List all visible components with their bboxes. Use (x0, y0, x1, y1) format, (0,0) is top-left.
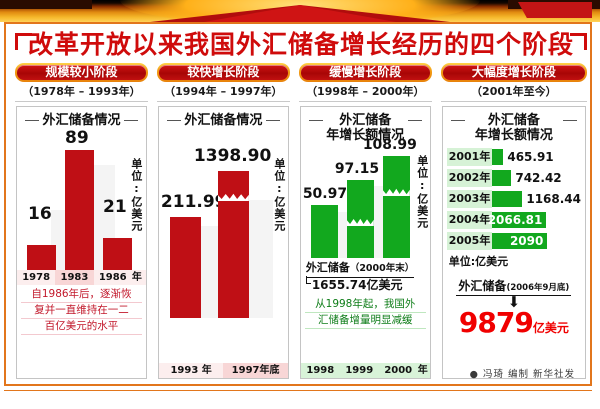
main-frame: 改革开放以来我国外汇储备增长经历的四个阶段 规模较小阶段 （1978年 – 19… (4, 22, 592, 386)
stage-4-final-box: 外汇储备(2006年9月底) ⬇ 9879亿美元 (443, 269, 585, 338)
rule-left-icon (25, 120, 39, 121)
mid-note-title: 外汇储备（2000年末） (306, 261, 414, 278)
rule-left-icon (309, 120, 323, 121)
row-year: 2003年 (447, 190, 493, 208)
stage-4-label: 大幅度增长阶段 (443, 65, 585, 80)
note-line: 自1986年后，逐渐恢 (21, 287, 142, 303)
stage-3-plot: 50.97 97.15 108.99 单位:亿美元 (301, 143, 430, 258)
footer-rule (4, 390, 592, 406)
stage-1-card-title: 外汇储备情况 (42, 113, 120, 128)
rule-right-icon (408, 120, 422, 121)
note-line: 复并一直维持在一二 (21, 303, 142, 319)
infographic-root: 改革开放以来我国外汇储备增长经历的四个阶段 规模较小阶段 （1978年 – 19… (0, 0, 600, 409)
stage-3-label: 缓慢增长阶段 (301, 65, 430, 80)
stage-1-value-2: 21 (103, 197, 127, 217)
rule-right-icon (266, 120, 280, 121)
credit-line: ● 冯琦 编制 新华社发 (470, 366, 575, 380)
panel-stage-4: 大幅度增长阶段 （2001年至今） 外汇储备 年增长额情况 2001年 (439, 63, 589, 385)
title-row: 改革开放以来我国外汇储备增长经历的四个阶段 (7, 29, 595, 61)
stage-3-value-2: 108.99 (363, 137, 417, 153)
stage-4-card-title-line2: 年增长额情况 (443, 128, 585, 143)
axis-tick-label: 2000 (379, 363, 418, 378)
stage-2-plot: 211.99 1398.90 单位:亿美元 (159, 128, 288, 318)
stage-2-value-0: 211.99 (161, 192, 227, 212)
banner-red-flag (518, 2, 592, 18)
stage-2-axis: 1993 年 1997年底 (159, 363, 288, 378)
stage-4-pill-wrap: 大幅度增长阶段 (439, 63, 589, 82)
axis-unit-suffix: 年 (418, 363, 430, 378)
stage-4-card-title-wrap: 外汇储备 年增长额情况 (443, 107, 585, 143)
stage-2-pill-wrap: 较快增长阶段 (155, 63, 292, 82)
stage-2-card-title: 外汇储备情况 (184, 113, 262, 128)
panel-stage-2: 较快增长阶段 （1994年 – 1997年） 外汇储备情况 211.99 (155, 63, 292, 385)
table-row: 2005年 2090 (447, 231, 581, 251)
stage-2-value-1: 1398.90 (194, 146, 271, 166)
row-year: 2001年 (447, 148, 493, 166)
axis-tick-label: 1978 (17, 270, 55, 285)
stage-3-mid-note: 外汇储备（2000年末） 1655.74亿美元 (301, 258, 430, 292)
row-year: 2002年 (447, 169, 493, 187)
stage-2-period: （1994年 – 1997年） (157, 83, 290, 102)
stage-3-card-title-line1: 外汇储备 (339, 113, 391, 128)
stage-1-label: 规模较小阶段 (17, 65, 146, 80)
row-bar: 2066.81 (492, 212, 546, 228)
table-row: 2004年 2066.81 (447, 210, 581, 230)
mid-note-paren: （2000年末） (350, 263, 414, 274)
stage-3-bar-2 (383, 156, 410, 258)
stage-2-spacer (159, 318, 288, 358)
axis-unit-suffix: 年 (132, 270, 146, 285)
stage-1-pill: 规模较小阶段 (15, 63, 148, 82)
banner-left-bar (0, 0, 92, 9)
stage-1-note: 自1986年后，逐渐恢 复并一直维持在一二 百亿美元的水平 (17, 285, 146, 339)
final-paren: (2006年9月底) (506, 283, 569, 293)
note-line: 百亿美元的水平 (21, 319, 142, 335)
panel-stage-1: 规模较小阶段 （1978年 – 1993年） 外汇储备情况 16 (13, 63, 150, 385)
stage-2-card: 外汇储备情况 211.99 1398.90 单位:亿美元 1993 年 (158, 106, 289, 379)
stage-3-pill-wrap: 缓慢增长阶段 (297, 63, 434, 82)
rule-right-icon (563, 120, 577, 121)
stage-1-bar-0 (27, 245, 56, 270)
stage-1-axis: 1978 1983 1986 年 (17, 270, 146, 285)
stage-2-card-title-wrap: 外汇储备情况 (159, 107, 288, 128)
row-bar (492, 191, 522, 207)
stage-3-axis: 1998 1999 2000 年 (301, 363, 430, 378)
row-value: 1168.44 (522, 192, 581, 206)
row-value: 2066.81 (488, 212, 543, 228)
stage-2-bar-0 (170, 217, 201, 318)
stage-2-unit-label: 单位:亿美元 (273, 158, 285, 232)
row-value: 742.42 (511, 171, 561, 185)
stage-4-unit-label: 单位:亿美元 (443, 252, 585, 269)
page-title: 改革开放以来我国外汇储备增长经历的四个阶段 (7, 29, 595, 61)
row-bar (492, 149, 503, 165)
stage-3-bar-0 (311, 205, 338, 258)
stage-1-bar-2 (103, 238, 132, 270)
panel-stage-3: 缓慢增长阶段 （1998年 – 2000年） 外汇储备 年增长额情况 (297, 63, 434, 385)
final-unit: 亿美元 (533, 321, 569, 335)
stage-1-bar-1 (65, 150, 94, 270)
rule-left-icon (451, 120, 465, 121)
axis-tick-label: 1998 (301, 363, 340, 378)
stage-4-card: 外汇储备 年增长额情况 2001年 465.91 2002年 742.42 (442, 106, 586, 379)
mid-note-value: 1655.74亿美元 (306, 278, 425, 292)
stage-1-card: 外汇储备情况 16 89 21 单位:亿美元 1978 (16, 106, 147, 379)
stage-3-value-0: 50.97 (303, 186, 347, 202)
stage-1-value-0: 16 (28, 204, 52, 224)
axis-tick-label: 1986 (94, 270, 132, 285)
stage-2-pill: 较快增长阶段 (157, 63, 290, 82)
stage-3-card: 外汇储备 年增长额情况 50.97 97.15 108.99 (300, 106, 431, 379)
banner-triangle-inner (204, 5, 396, 22)
stage-1-unit-label: 单位:亿美元 (130, 158, 142, 232)
row-year: 2005年 (447, 232, 493, 250)
stage-3-note: 从1998年起，我国外 汇储备增量明显减缓 (301, 292, 430, 333)
table-row: 2002年 742.42 (447, 168, 581, 188)
panels-container: 规模较小阶段 （1978年 – 1993年） 外汇储备情况 16 (13, 63, 589, 385)
stage-1-pill-wrap: 规模较小阶段 (13, 63, 150, 82)
row-bar: 2090 (492, 233, 547, 249)
stage-1-period: （1978年 – 1993年） (15, 83, 148, 102)
stage-2-label: 较快增长阶段 (159, 65, 288, 80)
row-value: 465.91 (503, 150, 553, 164)
row-value: 2090 (510, 233, 543, 249)
stage-3-value-1: 97.15 (335, 161, 379, 177)
axis-tick-label: 1993 年 (159, 363, 223, 378)
stage-4-period: （2001年至今） (441, 83, 587, 102)
row-year: 2004年 (447, 211, 493, 229)
stage-1-value-1: 89 (65, 128, 89, 148)
stage-2-bar-1 (218, 171, 249, 318)
stage-4-pill: 大幅度增长阶段 (441, 63, 587, 82)
rule-left-icon (167, 120, 181, 121)
decorative-banner (0, 0, 600, 22)
stage-3-pill: 缓慢增长阶段 (299, 63, 432, 82)
note-line: 从1998年起，我国外 (305, 297, 426, 313)
frame-inner-border: 改革开放以来我国外汇储备增长经历的四个阶段 规模较小阶段 （1978年 – 19… (6, 24, 590, 384)
axis-tick-label: 1999 (340, 363, 379, 378)
axis-tick-label: 1983 (55, 270, 93, 285)
final-value: 9879 (459, 306, 533, 339)
rule-right-icon (124, 120, 138, 121)
stage-4-card-title-line1: 外汇储备 (488, 113, 540, 128)
stage-4-hbar-list: 2001年 465.91 2002年 742.42 2003年 1 (443, 147, 585, 251)
stage-1-card-title-wrap: 外汇储备情况 (17, 107, 146, 128)
axis-tick-label: 1997年底 (223, 363, 287, 378)
stage-3-unit-label: 单位:亿美元 (416, 155, 428, 229)
row-bar (492, 170, 511, 186)
stage-3-period: （1998年 – 2000年） (299, 83, 432, 102)
watermark-shape (247, 200, 273, 318)
final-value-row: 9879亿美元 (443, 308, 585, 338)
table-row: 2003年 1168.44 (447, 189, 581, 209)
table-row: 2001年 465.91 (447, 147, 581, 167)
note-line: 汇储备增量明显减缓 (305, 313, 426, 329)
stage-1-plot: 16 89 21 单位:亿美元 (17, 128, 146, 270)
